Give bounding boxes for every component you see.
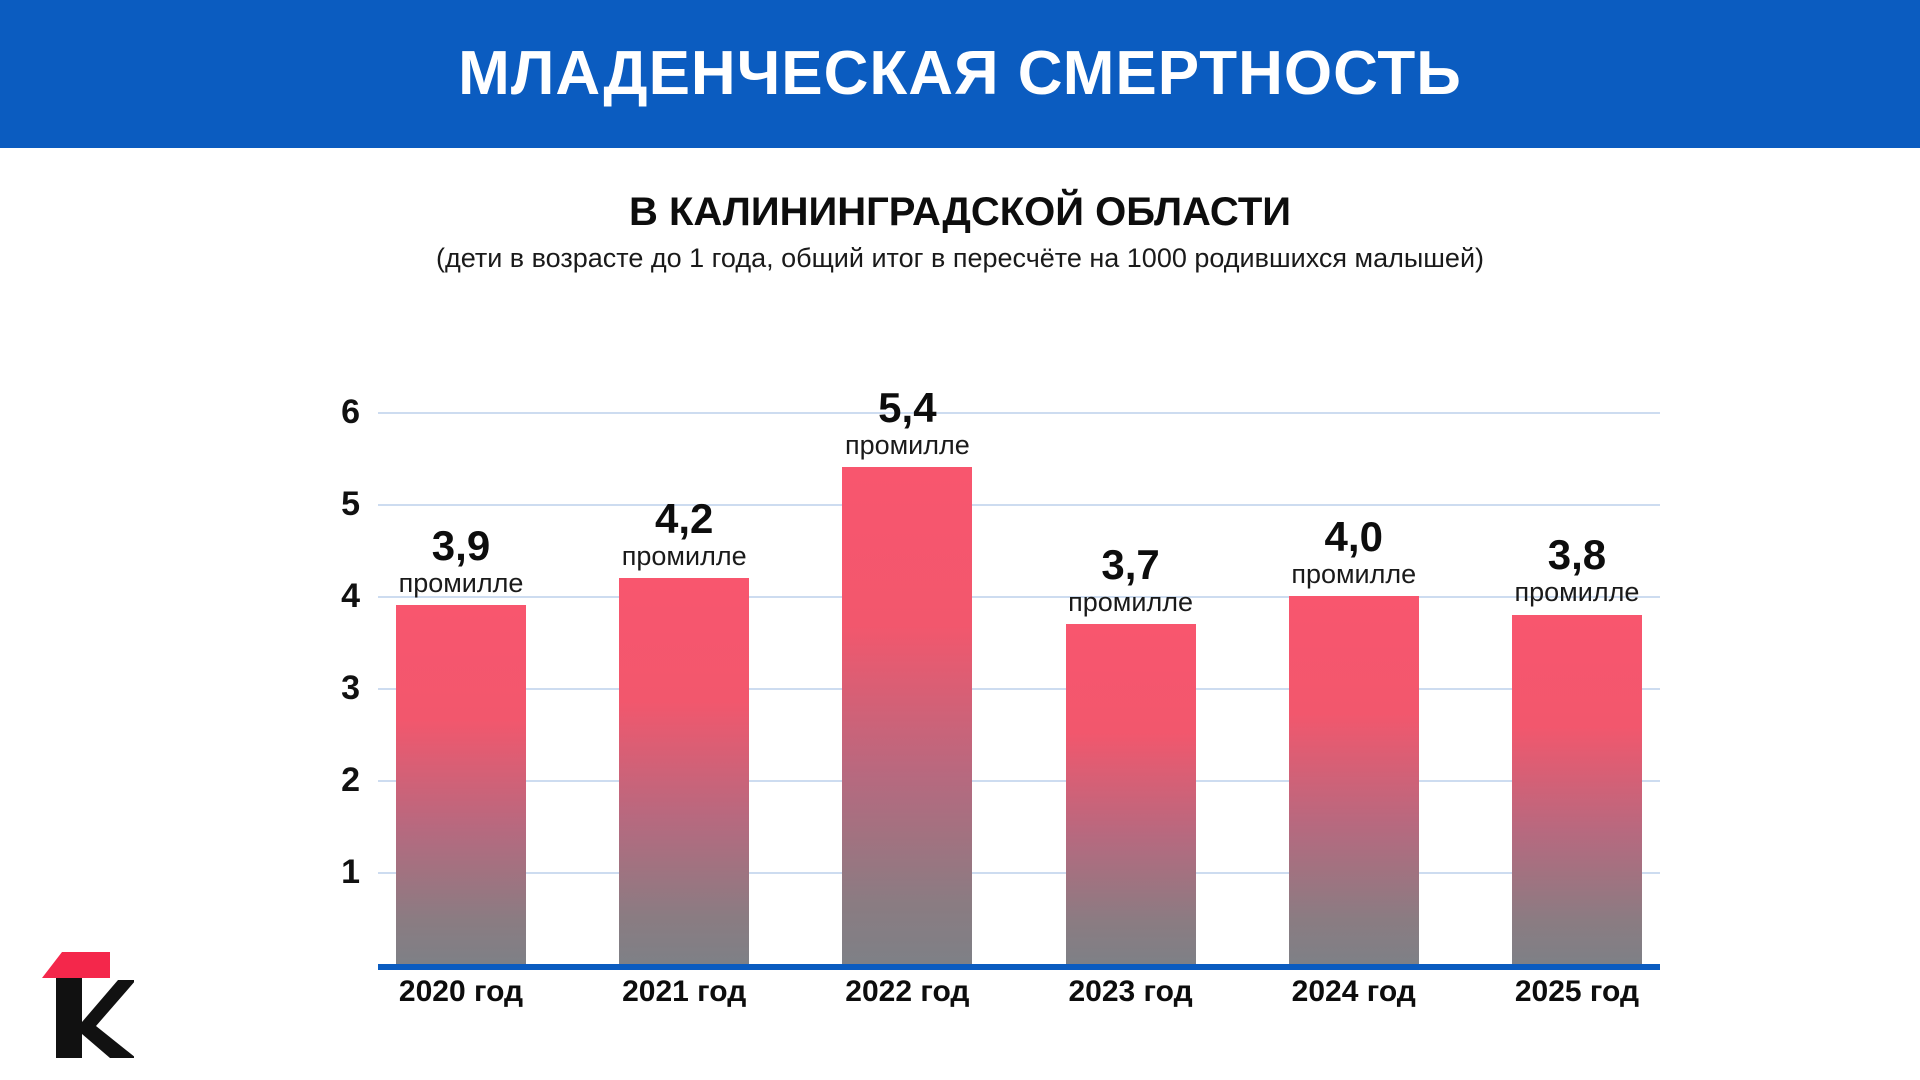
bar-value-label: 3,9 [356,524,566,568]
bar[interactable] [1289,596,1419,964]
y-axis-tick-label: 1 [300,855,360,889]
chart-plot-area: 123456 3,9промилле4,2промилле5,4промилле… [300,380,1660,970]
bar-label-group: 3,8промилле [1472,533,1682,608]
x-axis-category-label: 2025 год [1512,975,1642,1009]
bar-column[interactable]: 3,9промилле [396,380,526,964]
x-axis-category-label: 2021 год [619,975,749,1009]
bar-column[interactable]: 3,7промилле [1066,380,1196,964]
bar-value-label: 3,7 [1026,543,1236,587]
x-axis-category-label: 2024 год [1289,975,1419,1009]
grid-area: 3,9промилле4,2промилле5,4промилле3,7пром… [378,380,1660,970]
bar-label-group: 4,2промилле [579,497,789,572]
bar-unit-label: промилле [579,541,789,572]
y-axis-tick-label: 4 [300,579,360,613]
bar-column[interactable]: 4,2промилле [619,380,749,964]
y-axis-tick-label: 5 [300,487,360,521]
y-axis: 123456 [300,380,360,970]
bar-unit-label: промилле [1026,587,1236,618]
bar[interactable] [619,578,749,964]
logo-letter-k-arm-icon [82,980,134,1058]
bar-unit-label: промилле [356,568,566,599]
x-axis-category-label: 2020 год [396,975,526,1009]
header-banner: МЛАДЕНЧЕСКАЯ СМЕРТНОСТЬ [0,0,1920,148]
bar[interactable] [1066,624,1196,964]
logo-flag-icon [42,952,110,978]
chart-title: В КАЛИНИНГРАДСКОЙ ОБЛАСТИ [0,190,1920,234]
bar-column[interactable]: 5,4промилле [842,380,972,964]
y-axis-tick-label: 6 [300,395,360,429]
chart-title-block: В КАЛИНИНГРАДСКОЙ ОБЛАСТИ (дети в возрас… [0,190,1920,274]
axis-baseline [378,964,1660,970]
bar-column[interactable]: 4,0промилле [1289,380,1419,964]
page-title: МЛАДЕНЧЕСКАЯ СМЕРТНОСТЬ [458,43,1462,105]
bar[interactable] [842,467,972,964]
bar[interactable] [1512,615,1642,964]
bar[interactable] [396,605,526,964]
bar-value-label: 3,8 [1472,533,1682,577]
x-axis-category-label: 2022 год [842,975,972,1009]
y-axis-tick-label: 3 [300,671,360,705]
bar-value-label: 5,4 [802,386,1012,430]
bar-label-group: 3,7промилле [1026,543,1236,618]
logo-letter-k-icon [56,978,82,1058]
bar-value-label: 4,2 [579,497,789,541]
klops-k-logo [24,930,134,1060]
bar-unit-label: промилле [802,430,1012,461]
bar-label-group: 5,4промилле [802,386,1012,461]
bar-unit-label: промилле [1249,559,1459,590]
x-axis: 2020 год2021 год2022 год2023 год2024 год… [378,975,1660,1009]
bars-row: 3,9промилле4,2промилле5,4промилле3,7пром… [378,380,1660,964]
bar-label-group: 4,0промилле [1249,515,1459,590]
bar-value-label: 4,0 [1249,515,1459,559]
x-axis-category-label: 2023 год [1066,975,1196,1009]
bar-label-group: 3,9промилле [356,524,566,599]
bar-unit-label: промилле [1472,577,1682,608]
bar-column[interactable]: 3,8промилле [1512,380,1642,964]
y-axis-tick-label: 2 [300,763,360,797]
chart-subtitle: (дети в возрасте до 1 года, общий итог в… [0,242,1920,274]
